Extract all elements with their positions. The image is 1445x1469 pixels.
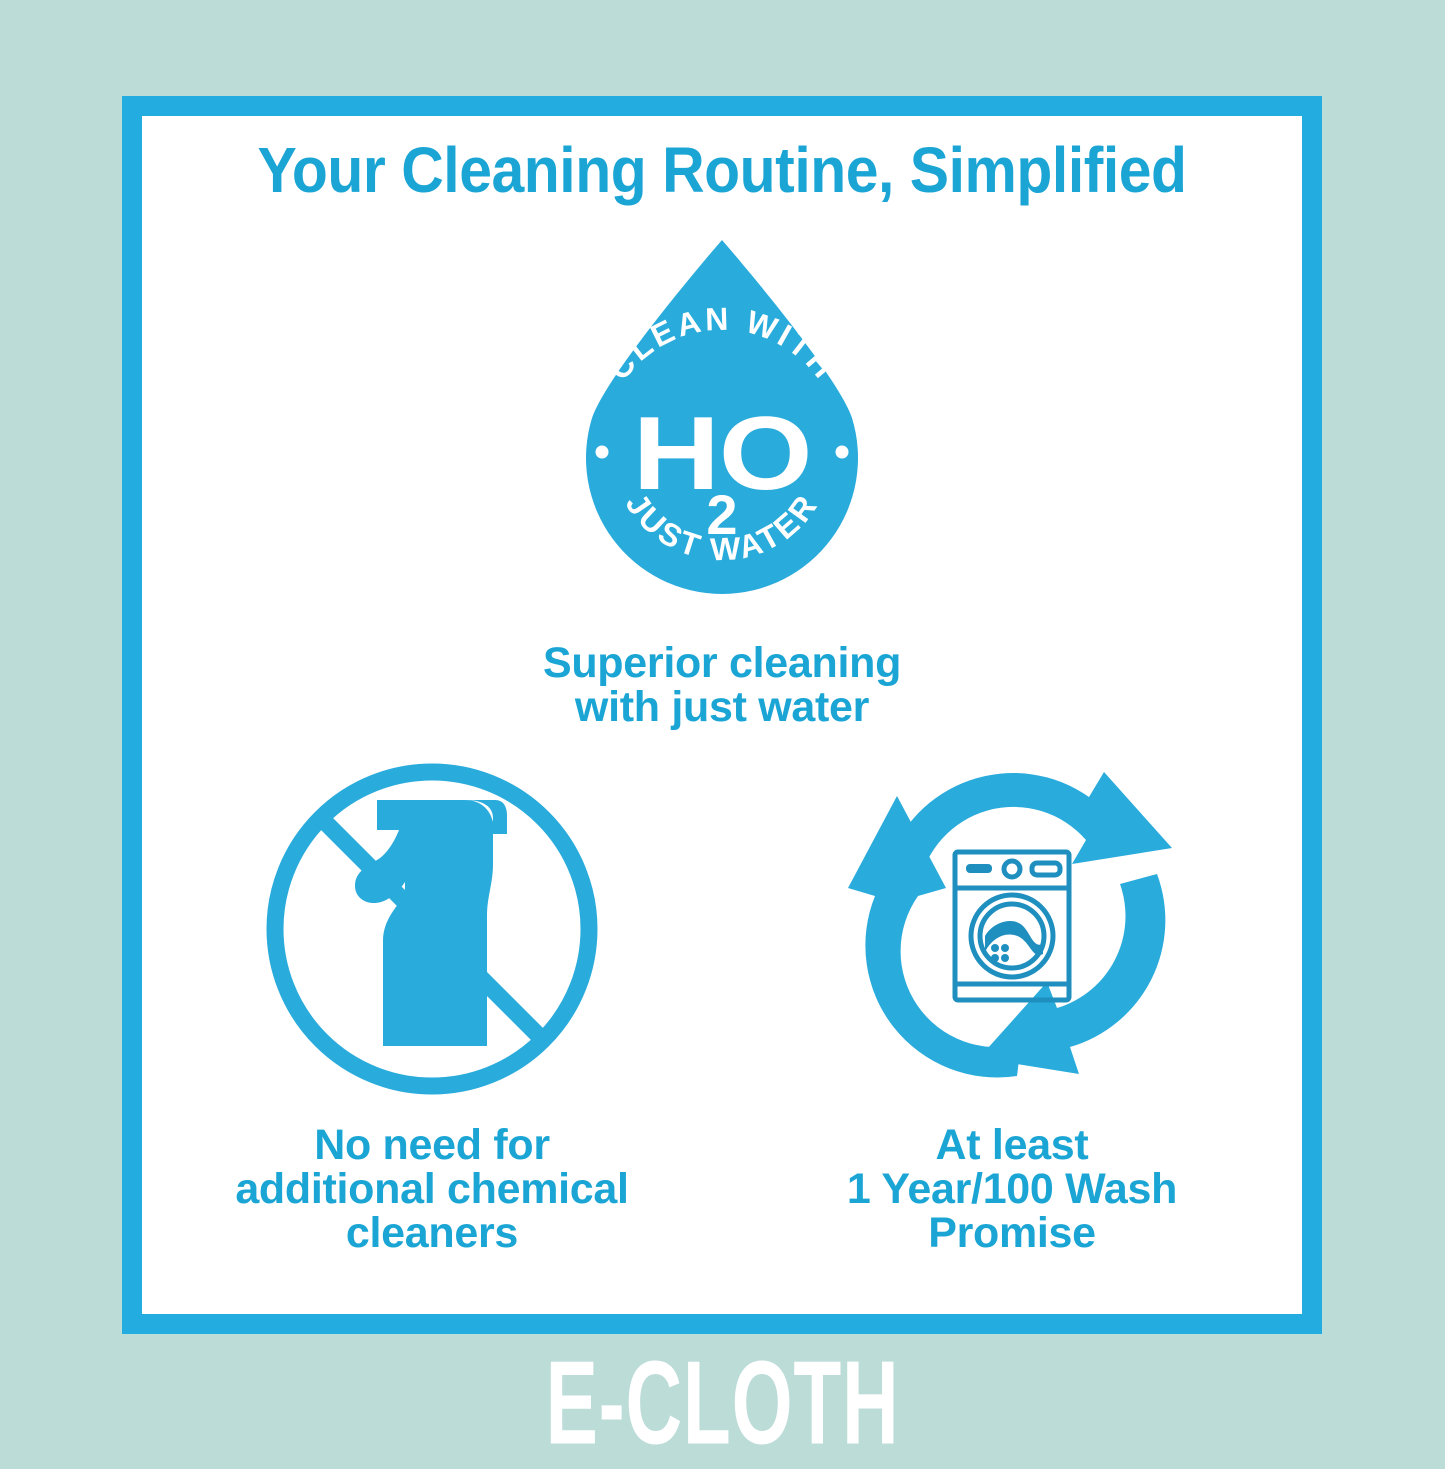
- fabric-flower-icon: [991, 944, 1009, 962]
- feature-wash-promise: At least 1 Year/100 Wash Promise: [734, 756, 1291, 1256]
- feature-caption-no-chemicals: No need for additional chemical cleaners: [154, 1124, 711, 1256]
- no-spray-bottle-icon: [259, 756, 605, 1102]
- feature-water-drop: CLEAN WITH JUST WATER HO 2 Superior clea…: [142, 234, 1302, 730]
- product-feature-poster: Your Cleaning Routine, Simplified CLEAN …: [0, 0, 1445, 1445]
- water-drop-h2o-badge-icon: CLEAN WITH JUST WATER HO 2: [557, 234, 887, 634]
- washing-machine-icon: [955, 852, 1069, 1000]
- badge-formula-subscript: 2: [706, 483, 737, 546]
- feature-no-chemicals: No need for additional chemical cleaners: [154, 756, 711, 1256]
- bordered-card-frame: Your Cleaning Routine, Simplified CLEAN …: [122, 96, 1322, 1334]
- badge-separator-dot-right: [836, 446, 849, 459]
- card-content-area: Your Cleaning Routine, Simplified CLEAN …: [142, 116, 1302, 1314]
- badge-separator-dot-left: [596, 446, 609, 459]
- feature-caption-wash-promise: At least 1 Year/100 Wash Promise: [734, 1124, 1291, 1256]
- page-title: Your Cleaning Routine, Simplified: [188, 138, 1255, 202]
- recycle-washing-machine-icon: [827, 756, 1197, 1102]
- feature-row: No need for additional chemical cleaners: [142, 756, 1302, 1256]
- feature-caption-water-drop: Superior cleaning with just water: [142, 642, 1302, 730]
